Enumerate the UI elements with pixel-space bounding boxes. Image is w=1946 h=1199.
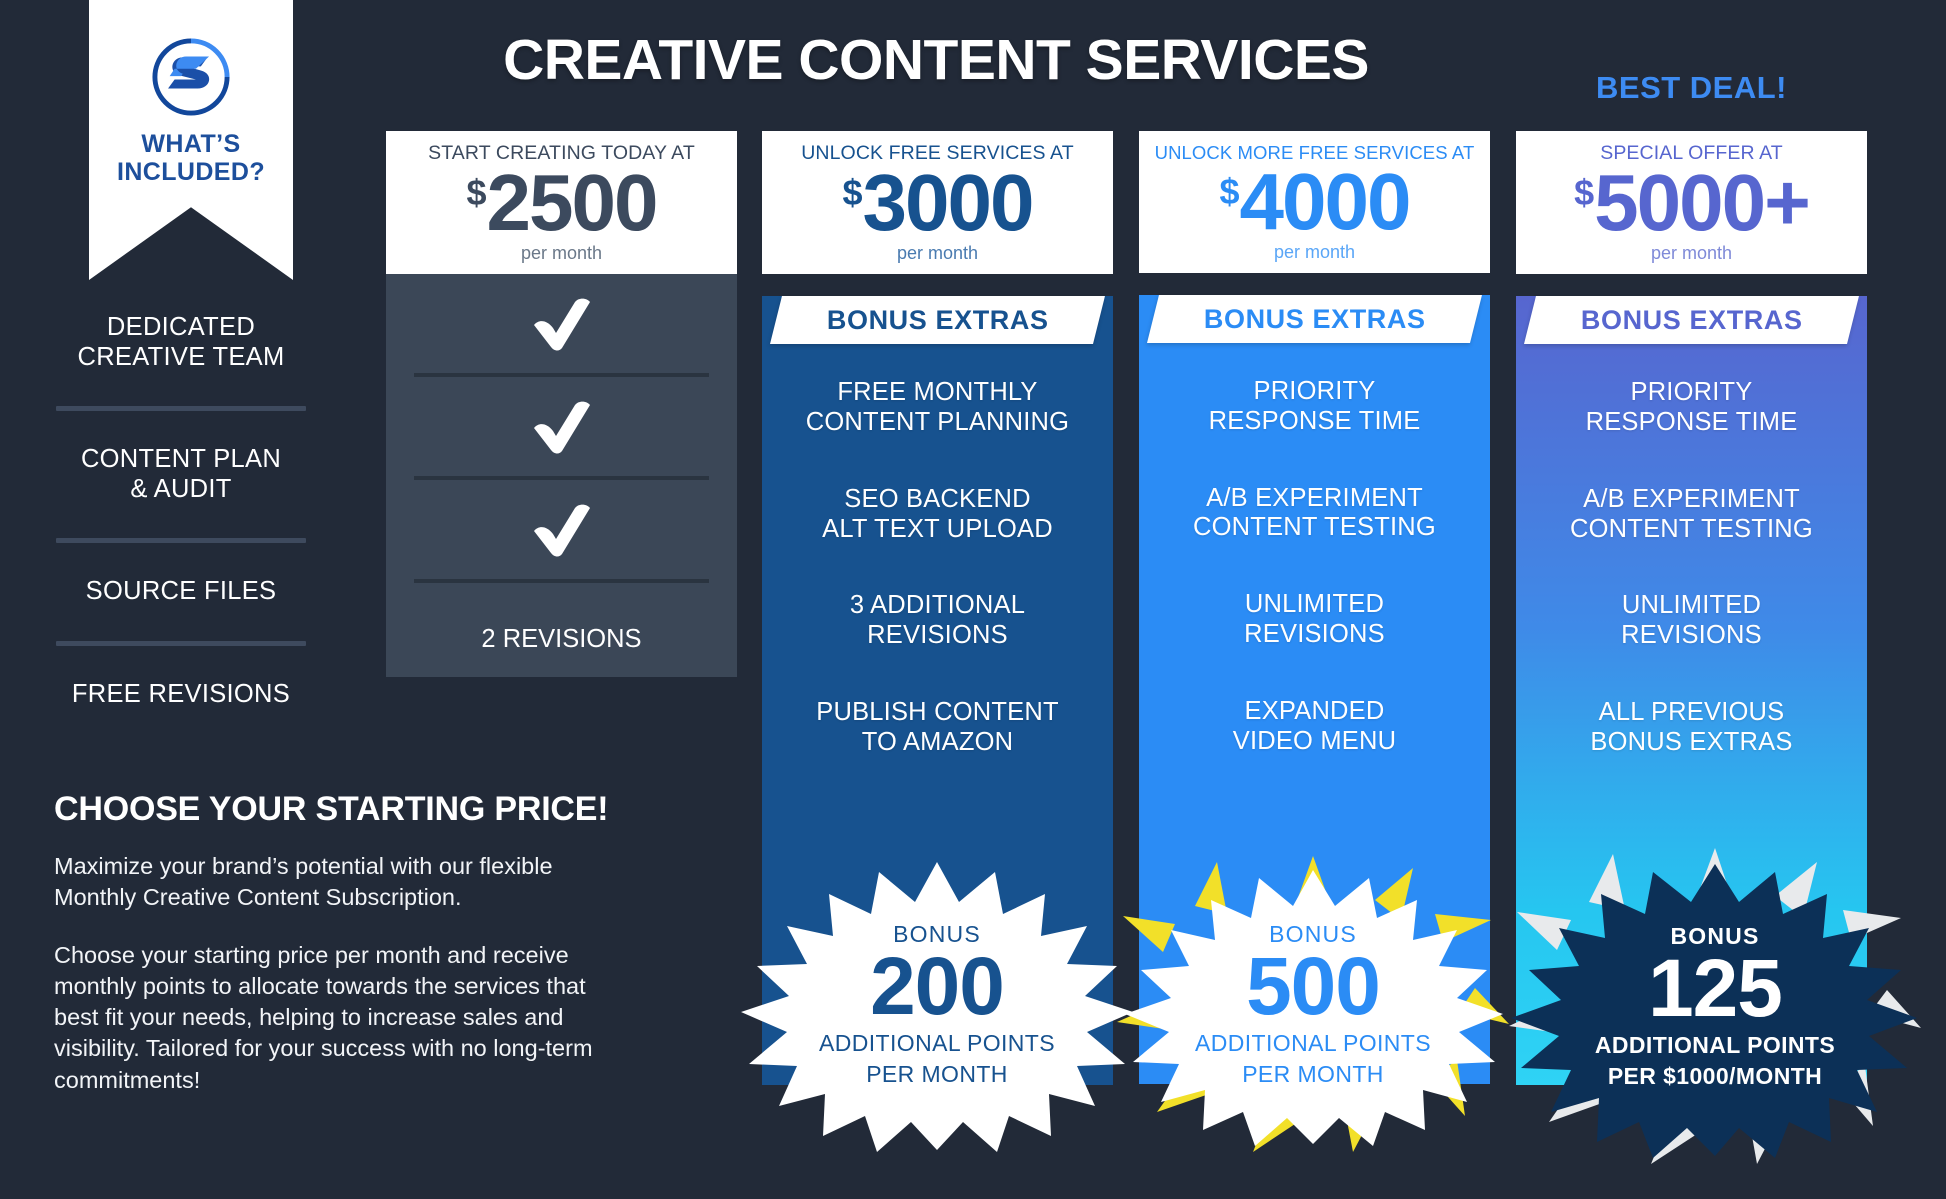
bonus-extras-banner: BONUS EXTRAS [1524,296,1859,344]
currency-symbol: $ [467,176,487,209]
burst-sub-line-2: PER MONTH [866,1061,1008,1087]
bonus-burst-200: BONUS 200 ADDITIONAL POINTS PER MONTH [737,854,1137,1154]
burst-number: 125 [1648,950,1782,1029]
feature-item: PRIORITY RESPONSE TIME [1149,377,1480,437]
divider [56,538,306,543]
bonus-extras-banner: BONUS EXTRAS [770,296,1105,344]
list-item: CONTENT PLAN & AUDIT [36,437,326,512]
feature-item: PUBLISH CONTENT TO AMAZON [772,698,1103,758]
burst-sub-line-2: PER MONTH [1242,1061,1384,1087]
feature-line-1: SOURCE FILES [36,577,326,607]
price-row: $ 2500 [392,166,731,240]
feature-line-1: CONTENT PLAN [36,445,326,475]
tier-body: 2 REVISIONS [386,274,737,677]
feature-line-2: CREATIVE TEAM [36,343,326,373]
best-deal-badge: BEST DEAL! [1516,70,1867,106]
bonus-extras-label: BONUS EXTRAS [1581,305,1803,336]
feature-item: A/B EXPERIMENT CONTENT TESTING [1149,484,1480,544]
burst-text: BONUS 125 ADDITIONAL POINTS PER $1000/MO… [1505,846,1925,1166]
price-value: 4000 [1240,165,1410,239]
feature-item: ALL PREVIOUS BONUS EXTRAS [1526,698,1857,758]
whats-included-ribbon: WHAT’S INCLUDED? [89,0,293,280]
price-card: UNLOCK FREE SERVICES AT $ 3000 per month [762,131,1113,274]
price-value: 2500 [487,166,657,240]
feature-item: PRIORITY RESPONSE TIME [1526,378,1857,438]
feature-item: FREE MONTHLY CONTENT PLANNING [772,378,1103,438]
burst-sub-line-1: ADDITIONAL POINTS [819,1030,1055,1056]
page-title: CREATIVE CONTENT SERVICES [386,27,1486,93]
feature-item: UNLIMITED REVISIONS [1149,590,1480,650]
burst-sub-line-1: ADDITIONAL POINTS [1195,1030,1431,1056]
copy-paragraph-2: Choose your starting price per month and… [54,940,629,1096]
feature-item: A/B EXPERIMENT CONTENT TESTING [1526,485,1857,545]
price-value: 3000 [863,166,1033,240]
price-row: $ 3000 [768,166,1107,240]
feature-item: SEO BACKEND ALT TEXT UPLOAD [772,485,1103,545]
price-card: UNLOCK MORE FREE SERVICES AT $ 4000 per … [1139,131,1490,273]
feature-line-1: FREE REVISIONS [36,680,326,710]
price-period: per month [1145,242,1484,263]
feature-item: EXPANDED VIDEO MENU [1149,697,1480,757]
bonus-extras-label: BONUS EXTRAS [1204,303,1426,334]
ribbon-title: WHAT’S INCLUDED? [117,130,265,186]
currency-symbol: $ [1220,175,1240,208]
currency-symbol: $ [843,176,863,209]
burst-number: 500 [1246,948,1380,1027]
pricing-column-2500[interactable]: START CREATING TODAY AT $ 2500 per month [386,131,737,677]
list-item: FREE REVISIONS [36,672,326,718]
feature-list: FREE MONTHLY CONTENT PLANNING SEO BACKEN… [762,344,1113,758]
check-icon [529,296,595,352]
brand-logo [150,36,232,118]
price-row: $ 4000 [1145,165,1484,239]
burst-number: 200 [870,948,1004,1027]
marketing-copy: CHOOSE YOUR STARTING PRICE! Maximize you… [54,790,629,1122]
price-period: per month [392,243,731,264]
copy-paragraph-1: Maximize your brand’s potential with our… [54,851,629,914]
check-icon [529,502,595,558]
check-icon [529,399,595,455]
price-period: per month [768,243,1107,264]
list-item: DEDICATED CREATIVE TEAM [36,305,326,380]
burst-sub-line-2: PER $1000/MONTH [1608,1063,1822,1089]
s-monogram-logo-icon [150,36,232,118]
bonus-burst-125: BONUS 125 ADDITIONAL POINTS PER $1000/MO… [1505,846,1905,1146]
bonus-burst-500: BONUS 500 ADDITIONAL POINTS PER MONTH [1113,854,1513,1154]
check-row [386,480,737,579]
included-features-list: DEDICATED CREATIVE TEAM CONTENT PLAN & A… [36,305,326,717]
bonus-extras-label: BONUS EXTRAS [827,305,1049,336]
check-row [386,377,737,476]
feature-list: PRIORITY RESPONSE TIME A/B EXPERIMENT CO… [1139,343,1490,757]
copy-heading: CHOOSE YOUR STARTING PRICE! [54,790,629,829]
revisions-label: 2 REVISIONS [386,583,737,654]
infographic-root: CREATIVE CONTENT SERVICES WHAT’S INCLUDE… [0,0,1946,1199]
price-period: per month [1522,243,1861,264]
price-row: $ 5000+ [1522,166,1861,240]
ribbon-title-line-1: WHAT’S [117,130,265,158]
price-card: START CREATING TODAY AT $ 2500 per month [386,131,737,274]
currency-symbol: $ [1574,176,1594,209]
feature-item: 3 ADDITIONAL REVISIONS [772,591,1103,651]
price-value: 5000+ [1594,166,1809,240]
burst-text: BONUS 500 ADDITIONAL POINTS PER MONTH [1113,854,1513,1154]
list-item: SOURCE FILES [36,569,326,615]
divider [56,641,306,646]
check-row [386,274,737,373]
divider [56,406,306,411]
bonus-extras-banner: BONUS EXTRAS [1147,295,1482,343]
price-card: SPECIAL OFFER AT $ 5000+ per month [1516,131,1867,274]
ribbon-title-line-2: INCLUDED? [117,158,265,186]
feature-line-2: & AUDIT [36,475,326,505]
burst-sub-line-1: ADDITIONAL POINTS [1595,1032,1835,1058]
feature-line-1: DEDICATED [36,313,326,343]
feature-list: PRIORITY RESPONSE TIME A/B EXPERIMENT CO… [1516,344,1867,758]
feature-item: UNLIMITED REVISIONS [1526,591,1857,651]
burst-text: BONUS 200 ADDITIONAL POINTS PER MONTH [737,854,1137,1154]
